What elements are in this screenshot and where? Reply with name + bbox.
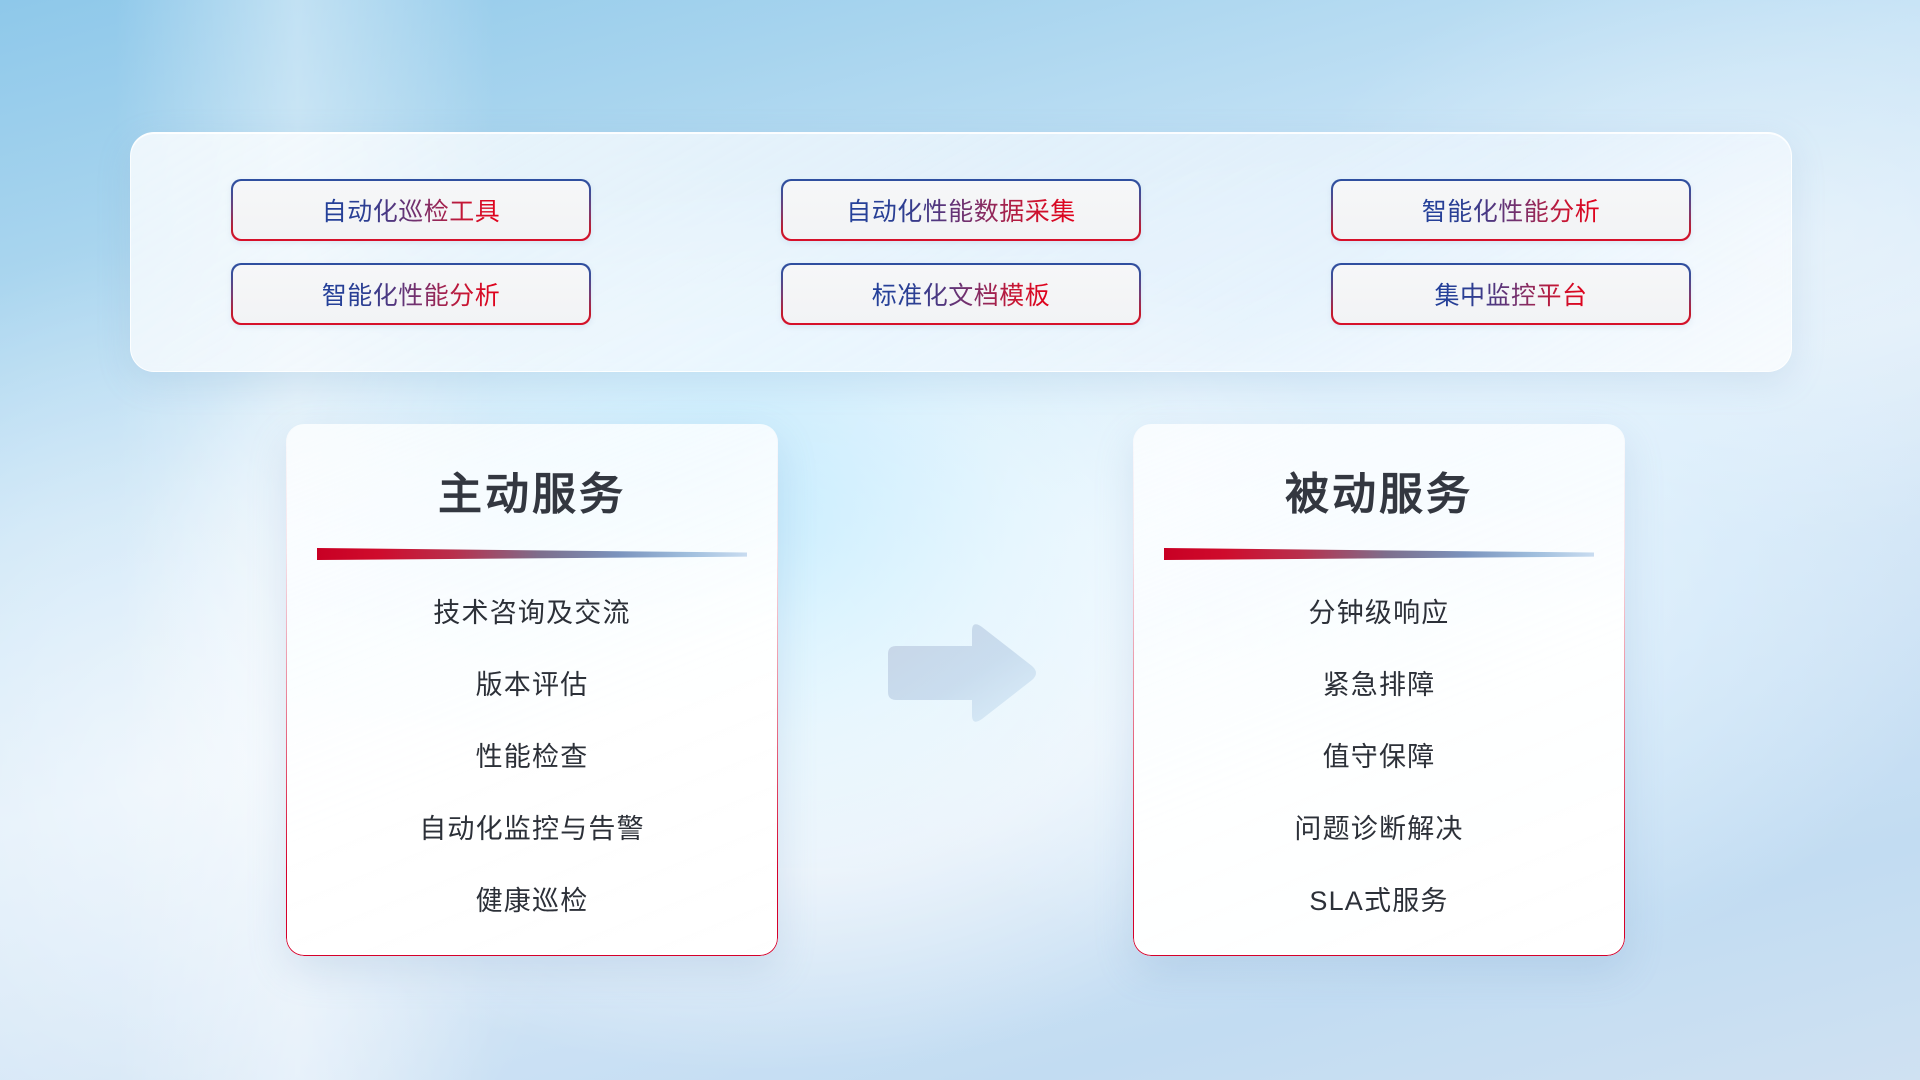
capability-tag-grid: 自动化巡检工具 自动化性能数据采集 智能化性能分析 智能化性能分析 [221,179,1701,325]
service-item-list: 分钟级响应 紧急排障 值守保障 问题诊断解决 SLA式服务 [1133,560,1625,915]
capability-tag[interactable]: 自动化性能数据采集 [781,179,1141,241]
service-item: 问题诊断解决 [1133,816,1625,843]
service-card-passive: 被动服务 分钟级响应 紧急排障 值守保障 问题诊断解决 SLA式服务 [1133,424,1625,956]
capability-tag[interactable]: 标准化文档模板 [781,263,1141,325]
capability-tag-label: 自动化巡检工具 [322,192,501,228]
service-item-list: 技术咨询及交流 版本评估 性能检查 自动化监控与告警 健康巡检 [286,560,778,915]
capability-tag[interactable]: 智能化性能分析 [231,263,591,325]
capability-tag-label: 自动化性能数据采集 [846,192,1076,228]
capability-tag-inner: 自动化巡检工具 [233,181,590,240]
capability-tag-label: 智能化性能分析 [1422,192,1601,228]
capability-tag-inner: 智能化性能分析 [1333,181,1690,240]
capability-tag-label: 智能化性能分析 [322,276,501,312]
capability-tag[interactable]: 自动化巡检工具 [231,179,591,241]
service-item: 版本评估 [286,672,778,699]
capability-tag-inner: 集中监控平台 [1333,265,1690,324]
capability-tag-label: 集中监控平台 [1434,276,1587,312]
capability-tag-label: 标准化文档模板 [872,276,1051,312]
capability-tag-inner: 标准化文档模板 [783,265,1140,324]
title-divider [1164,548,1594,560]
service-item: 紧急排障 [1133,672,1625,699]
capability-tag[interactable]: 集中监控平台 [1331,263,1691,325]
title-divider [317,548,747,560]
capabilities-panel: 自动化巡检工具 自动化性能数据采集 智能化性能分析 智能化性能分析 [130,132,1792,372]
service-card-active: 主动服务 技术咨询及交流 版本评估 性能检查 自动化监控与告警 健康巡检 [286,424,778,956]
service-item: 健康巡检 [286,888,778,915]
service-item: 性能检查 [286,744,778,771]
service-item: 技术咨询及交流 [286,600,778,627]
capability-tag[interactable]: 智能化性能分析 [1331,179,1691,241]
service-item: 分钟级响应 [1133,600,1625,627]
service-item: 自动化监控与告警 [286,816,778,843]
arrow-right-icon [880,620,1040,730]
slide-canvas: 自动化巡检工具 自动化性能数据采集 智能化性能分析 智能化性能分析 [0,0,1920,1080]
capability-tag-inner: 自动化性能数据采集 [783,181,1140,240]
service-card-title: 主动服务 [286,424,778,522]
service-item: SLA式服务 [1133,888,1625,915]
service-card-title: 被动服务 [1133,424,1625,522]
service-item: 值守保障 [1133,744,1625,771]
capability-tag-inner: 智能化性能分析 [233,265,590,324]
